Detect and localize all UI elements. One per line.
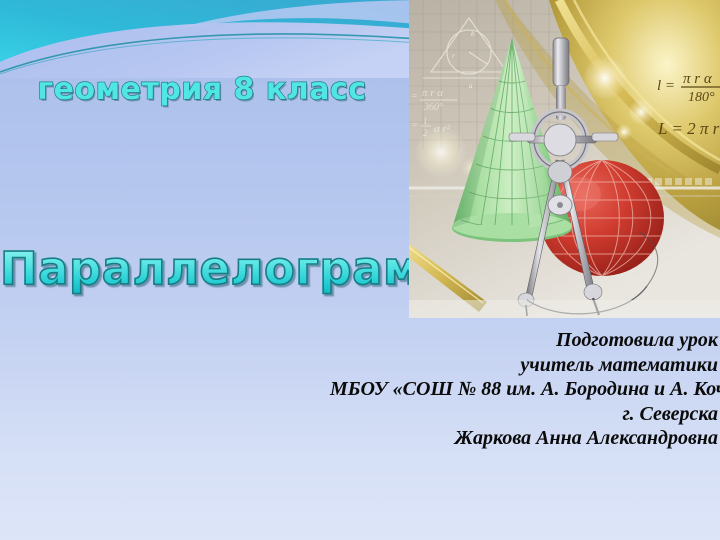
svg-text:b: b — [471, 30, 475, 38]
credits-block: Подготовила урок учитель математики МБОУ… — [330, 328, 720, 451]
credits-line: Жаркова Анна Александровна — [330, 426, 718, 451]
svg-text:=: = — [411, 91, 418, 102]
credits-line: учитель математики — [330, 353, 718, 378]
svg-text:a: a — [469, 82, 473, 90]
svg-text:l =: l = — [657, 78, 675, 94]
slide-subtitle: геометрия 8 класс — [37, 72, 366, 107]
svg-text:r: r — [452, 52, 455, 60]
svg-text:180°: 180° — [688, 90, 715, 105]
credits-line: Подготовила урок — [330, 328, 718, 353]
decorative-wave-band — [0, 0, 432, 78]
svg-text:π r α: π r α — [422, 87, 443, 99]
slide-title: Параллелограмм — [0, 242, 458, 295]
svg-text:1: 1 — [423, 116, 428, 126]
presentation-slide: геометрия 8 класс Параллелограмм Подгото… — [0, 0, 720, 540]
svg-text:=: = — [411, 120, 418, 131]
slide-title-container: Параллелограмм — [0, 242, 404, 295]
math-illustration-image: b r a — [409, 0, 720, 318]
svg-text:360°: 360° — [423, 102, 443, 113]
credits-line: МБОУ «СОШ № 88 им. А. Бородина и А. Коче… — [330, 377, 718, 402]
svg-text:π r α: π r α — [683, 71, 713, 87]
svg-text:L = 2 π r: L = 2 π r — [657, 119, 720, 138]
credits-line: г. Северска — [330, 402, 718, 427]
slide-subtitle-container: геометрия 8 класс — [0, 72, 404, 107]
